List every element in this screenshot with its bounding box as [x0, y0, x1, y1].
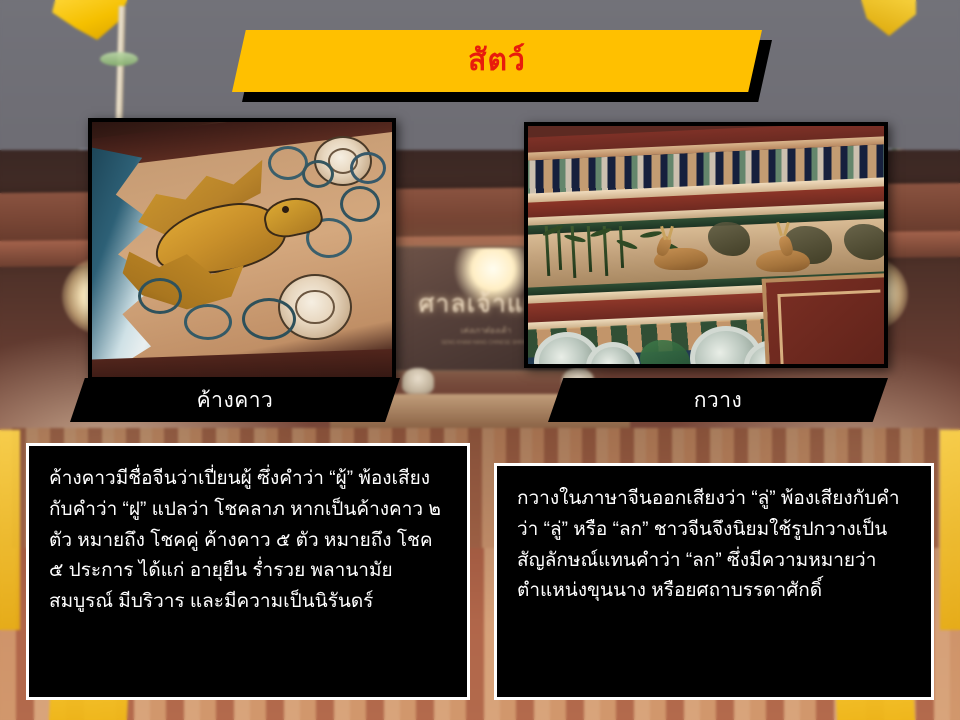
bat-photo-inner [92, 122, 392, 377]
cloud-scroll [242, 298, 296, 340]
beam-corner-frame [762, 273, 884, 364]
cloud-scroll [138, 278, 182, 314]
cloud-scroll [302, 160, 334, 188]
yellow-drape-left-edge [0, 430, 20, 630]
deer-label-text: กวาง [694, 390, 743, 411]
bat-label-text: ค้างคาว [197, 390, 274, 411]
flag-tie [100, 52, 138, 66]
deer-label-banner: กวาง [548, 378, 888, 422]
slide-canvas: ศาลเจ้าแสง เค่งเกาต๋องเต้า SENG KHAM HAN… [0, 0, 960, 720]
bat-photo-card [88, 118, 396, 381]
bat-description-box: ค้างคาวมีชื่อจีนว่าเปี่ยนผู้ ซึ่งคำว่า “… [26, 443, 470, 700]
deer-description-box: กวางในภาษาจีนออกเสียงว่า “ลู่” พ้องเสียง… [494, 463, 934, 700]
deer-description-text: กวางในภาษาจีนออกเสียงว่า “ลู่” พ้องเสียง… [517, 484, 911, 607]
cloud-scroll [184, 304, 232, 340]
bat-eye [282, 206, 289, 213]
cloud-scroll [340, 186, 380, 222]
peony-petal [295, 290, 334, 325]
yellow-drape-right-edge [940, 430, 960, 630]
bat-label-banner: ค้างคาว [70, 378, 400, 422]
beam-corner-inner-frame [777, 289, 884, 364]
cloud-scroll [350, 152, 386, 184]
bat-description-text: ค้างคาวมีชื่อจีนว่าเปี่ยนผู้ ซึ่งคำว่า “… [49, 464, 447, 618]
page-title: สัตว์ [468, 46, 526, 76]
lion-statue-left [402, 368, 434, 394]
deer-photo-card [524, 122, 888, 368]
deer-photo-inner [528, 126, 884, 364]
title-banner: สัตว์ [232, 30, 762, 92]
